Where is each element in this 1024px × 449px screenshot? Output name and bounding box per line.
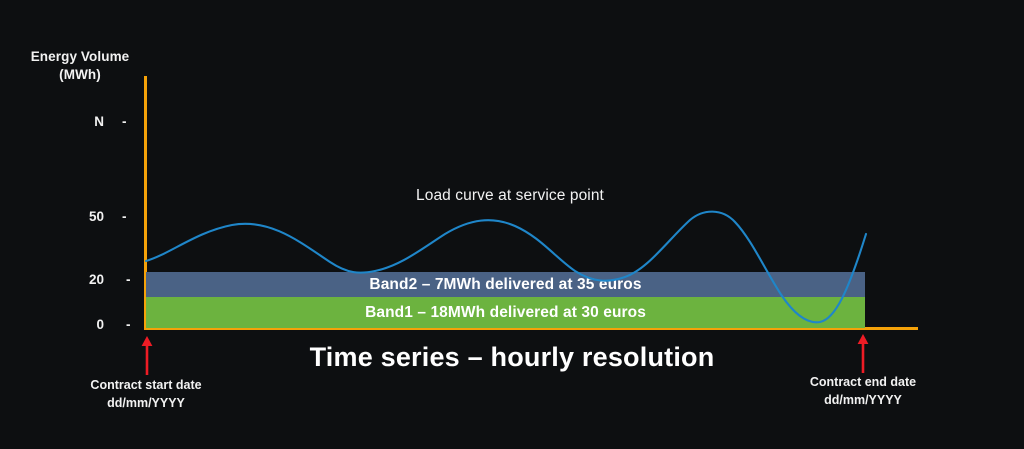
y-tick-dash-0: - (126, 317, 131, 332)
slide-canvas: Energy Volume (MWh) N - 50 - 20 - 0 - Ba… (0, 0, 1024, 449)
y-tick-label-50: 50 (58, 209, 104, 224)
y-tick-label-0: 0 (58, 317, 104, 332)
y-axis-title-line2: (MWh) (10, 66, 150, 84)
y-tick-label-20: 20 (58, 272, 104, 287)
y-tick-dash-20: - (126, 272, 131, 287)
contract-end-annotation-line2: dd/mm/YYYY (753, 392, 973, 410)
y-tick-label-n: N (58, 114, 104, 129)
band1-label: Band1 – 18MWh delivered at 30 euros (365, 304, 646, 322)
slide-title: Time series – hourly resolution (212, 342, 812, 373)
contract-start-arrow-icon (140, 335, 154, 375)
contract-start-annotation-line1: Contract start date (36, 377, 256, 395)
y-tick-dash-n: - (122, 114, 127, 129)
contract-start-annotation: Contract start date dd/mm/YYYY (36, 377, 256, 412)
contract-start-annotation-line2: dd/mm/YYYY (36, 395, 256, 413)
y-axis-title: Energy Volume (MWh) (10, 48, 150, 84)
load-curve-label: Load curve at service point (330, 187, 690, 205)
band2-area: Band2 – 7MWh delivered at 35 euros (146, 272, 865, 297)
contract-end-annotation: Contract end date dd/mm/YYYY (753, 374, 973, 409)
band2-label: Band2 – 7MWh delivered at 35 euros (369, 276, 641, 294)
y-tick-dash-50: - (122, 209, 127, 224)
contract-end-arrow-icon (856, 333, 870, 373)
y-axis-title-line1: Energy Volume (10, 48, 150, 66)
band1-area: Band1 – 18MWh delivered at 30 euros (146, 297, 865, 328)
contract-end-annotation-line1: Contract end date (753, 374, 973, 392)
